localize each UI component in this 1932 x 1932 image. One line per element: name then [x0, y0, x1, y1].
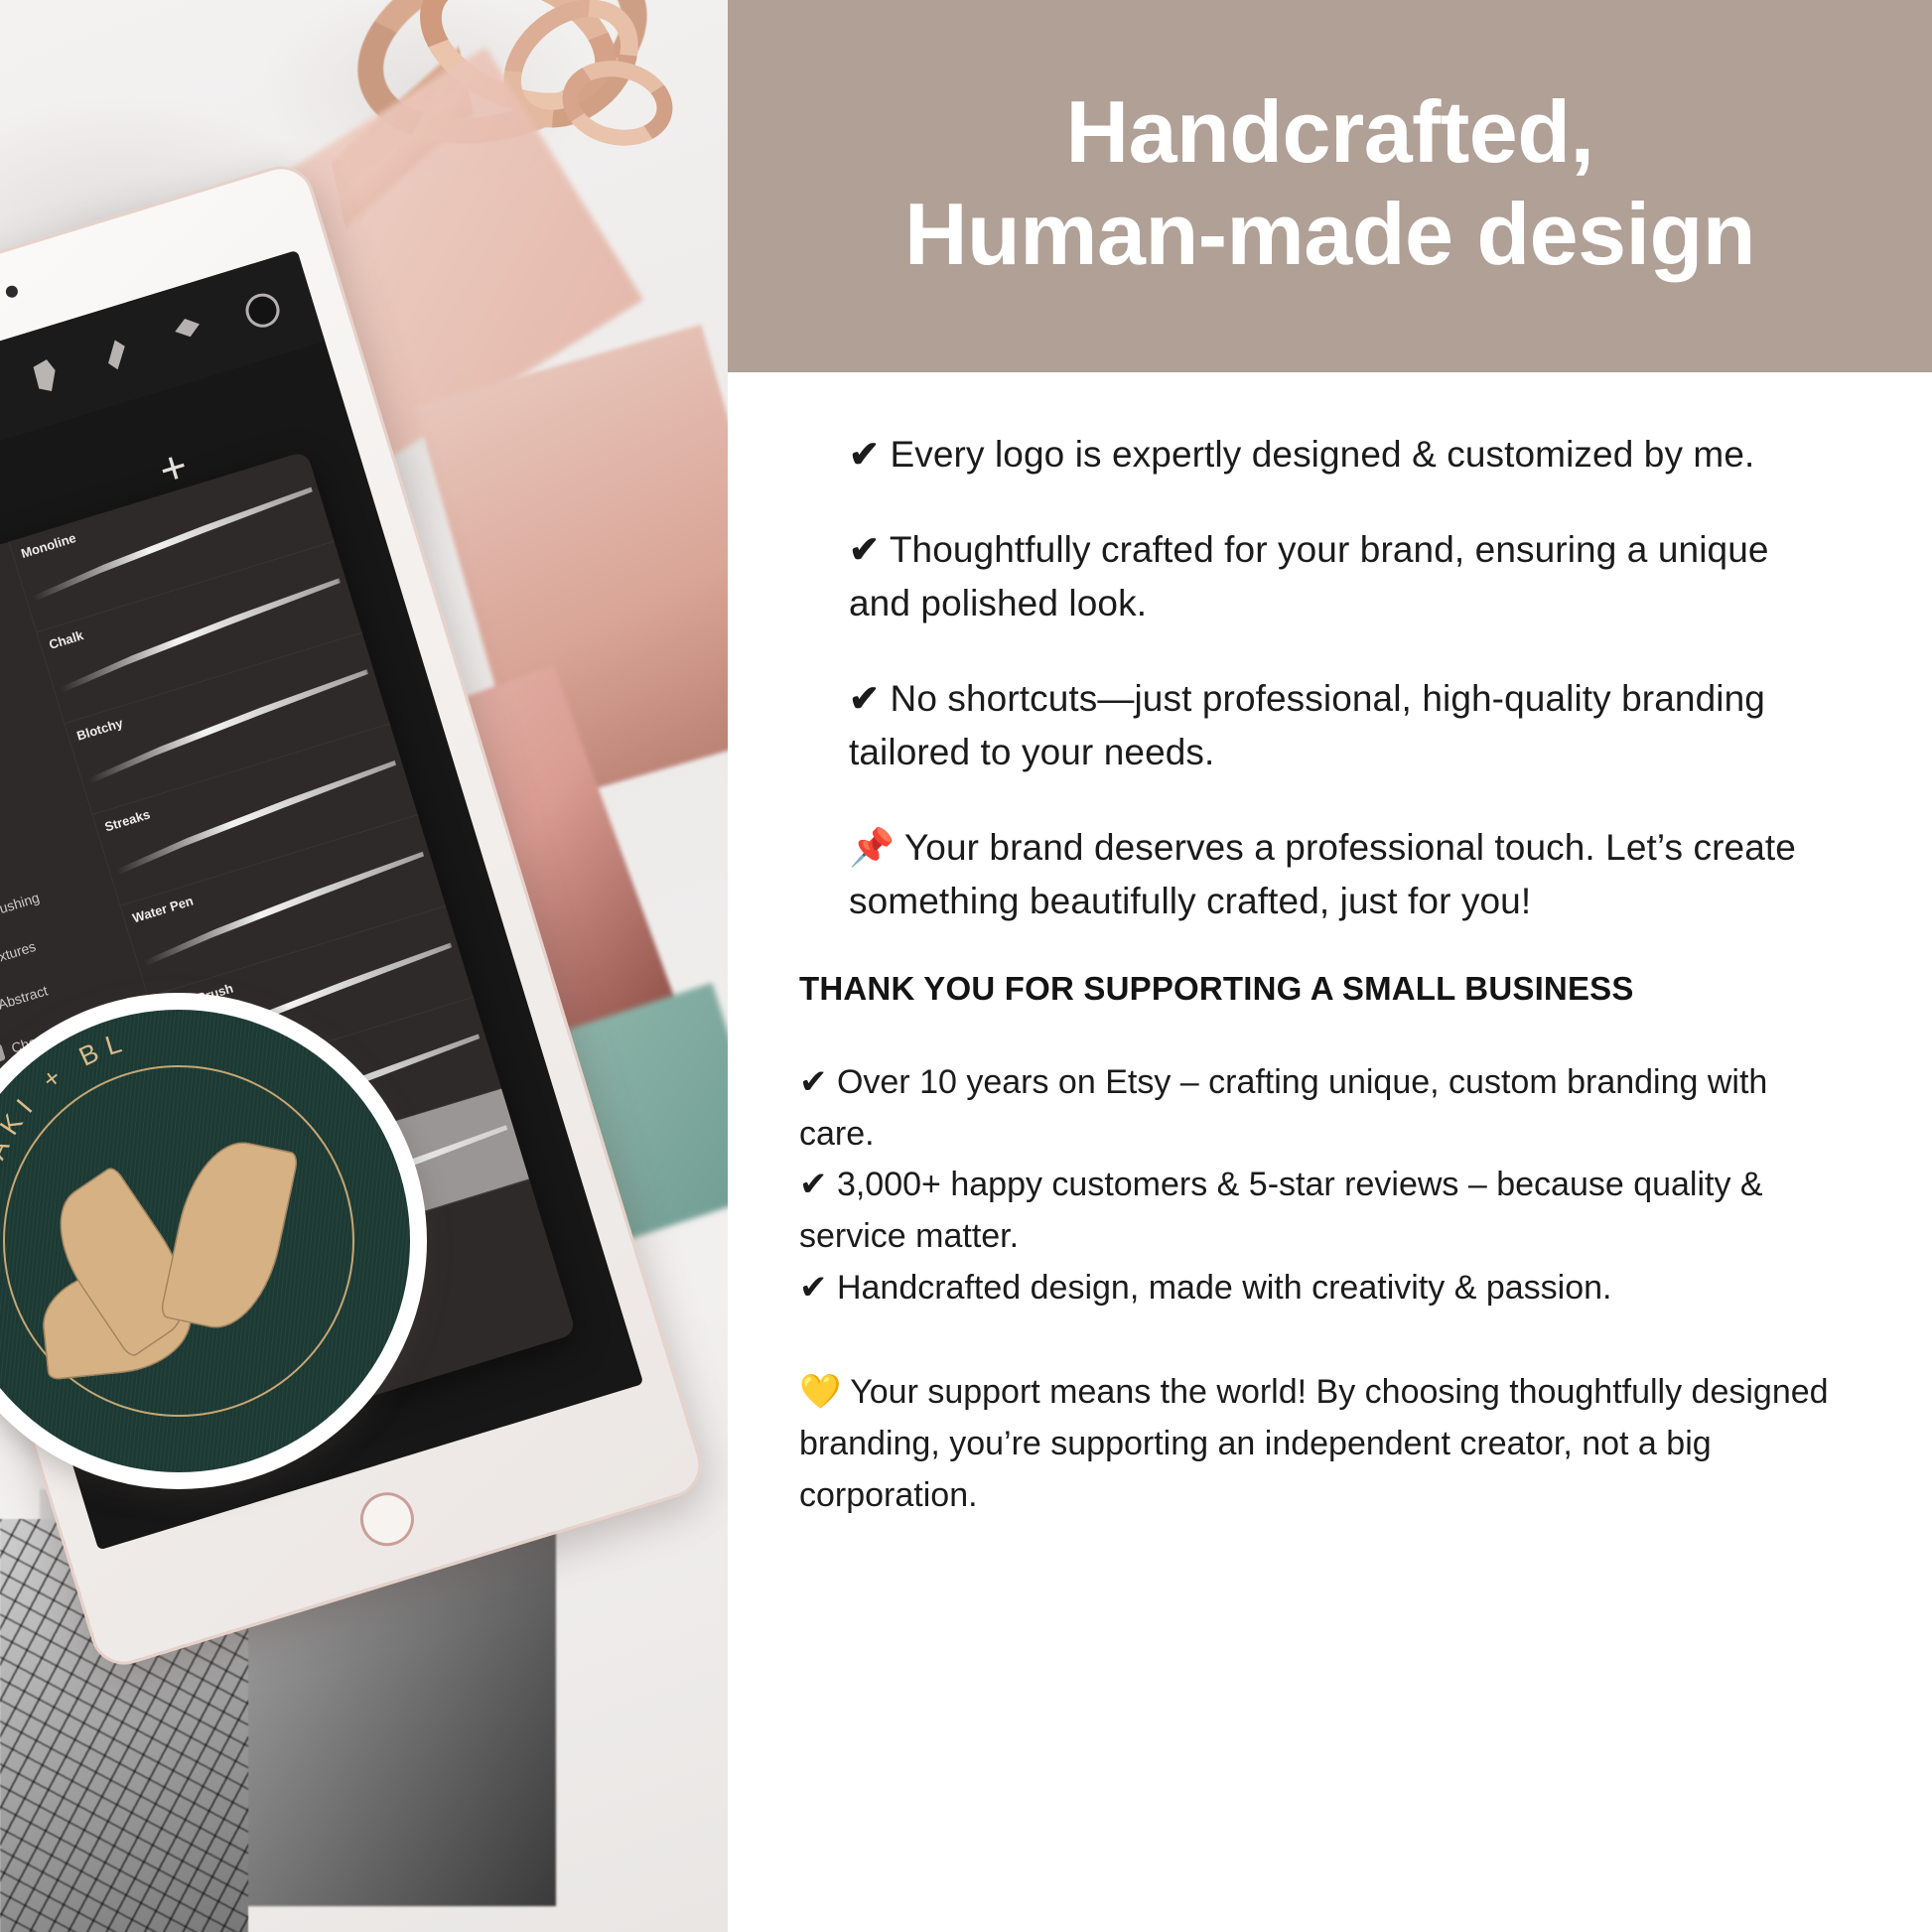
check-mark-icon: ✔	[799, 1063, 828, 1101]
title-line-1: Handcrafted,	[1066, 82, 1594, 181]
add-brush-button[interactable]: +	[154, 442, 193, 493]
brand-sticker: MERAKI + BL	[0, 993, 427, 1489]
feature-bullet: ✔ Thoughtfully crafted for your brand, e…	[849, 523, 1833, 630]
brush-category-label: Abstract	[0, 982, 50, 1012]
feature-bullet-text: No shortcuts—just professional, high-qua…	[849, 678, 1765, 772]
content-column: Handcrafted, Human-made design ✔ Every l…	[728, 0, 1932, 1932]
check-mark-icon: ✔	[799, 1269, 828, 1307]
brush-category-label: Airbrushing	[0, 890, 42, 925]
poster-root: + Brush Library Sketching Inking Calligr…	[0, 0, 1932, 1932]
front-camera-icon	[4, 284, 19, 299]
brush-category-label: Textures	[0, 938, 38, 969]
closing-paragraph-text: Your support means the world! By choosin…	[799, 1373, 1829, 1513]
thank-you-item-text: 3,000+ happy customers & 5-star reviews …	[799, 1166, 1763, 1255]
pushpin-icon: 📌	[849, 827, 895, 868]
closing-paragraph: 💛 Your support means the world! By choos…	[728, 1313, 1932, 1521]
product-photo: + Brush Library Sketching Inking Calligr…	[0, 0, 728, 1932]
thank-you-item: ✔ Handcrafted design, made with creativi…	[799, 1263, 1843, 1314]
feature-bullet: ✔ Every logo is expertly designed & cust…	[849, 428, 1833, 482]
feature-bullet: 📌 Your brand deserves a professional tou…	[849, 821, 1833, 928]
check-mark-icon: ✔	[799, 1166, 828, 1203]
title-line-2: Human-made design	[904, 185, 1755, 283]
color-swatch-icon[interactable]	[241, 289, 283, 331]
feature-bullet-text: Thoughtfully crafted for your brand, ens…	[849, 529, 1769, 623]
thank-you-item-text: Over 10 years on Etsy – crafting unique,…	[799, 1063, 1767, 1153]
feature-bullet-text: Your brand deserves a professional touch…	[849, 827, 1796, 921]
smudge-icon[interactable]	[25, 356, 64, 397]
svg-text:MERAKI + BL: MERAKI + BL	[0, 1026, 133, 1247]
eraser-icon[interactable]	[97, 335, 136, 375]
check-mark-icon: ✔	[849, 529, 880, 570]
thank-you-item: ✔ Over 10 years on Etsy – crafting uniqu…	[799, 1057, 1843, 1160]
sticker-brand-text: MERAKI + BL	[0, 1010, 410, 1472]
feature-bullet-list: ✔ Every logo is expertly designed & cust…	[728, 372, 1932, 928]
page-title: Handcrafted, Human-made design	[904, 81, 1755, 286]
home-button[interactable]	[353, 1485, 420, 1552]
check-mark-icon: ✔	[849, 678, 880, 719]
header-banner: Handcrafted, Human-made design	[728, 0, 1932, 372]
content-body: ✔ Every logo is expertly designed & cust…	[728, 372, 1932, 1521]
layers-icon[interactable]	[170, 313, 208, 353]
thank-you-item-text: Handcrafted design, made with creativity…	[837, 1269, 1612, 1307]
check-mark-icon: ✔	[849, 434, 880, 475]
sticker-face: MERAKI + BL	[0, 1010, 410, 1472]
feature-bullet: ✔ No shortcuts—just professional, high-q…	[849, 672, 1833, 779]
brush-category-label: Artistic	[0, 854, 1, 882]
thank-you-list: ✔ Over 10 years on Etsy – crafting uniqu…	[728, 1008, 1932, 1313]
feature-bullet-text: Every logo is expertly designed & custom…	[891, 434, 1755, 475]
yellow-heart-icon: 💛	[799, 1373, 841, 1411]
thank-you-item: ✔ 3,000+ happy customers & 5-star review…	[799, 1160, 1843, 1262]
thank-you-heading: THANK YOU FOR SUPPORTING A SMALL BUSINES…	[728, 970, 1932, 1008]
